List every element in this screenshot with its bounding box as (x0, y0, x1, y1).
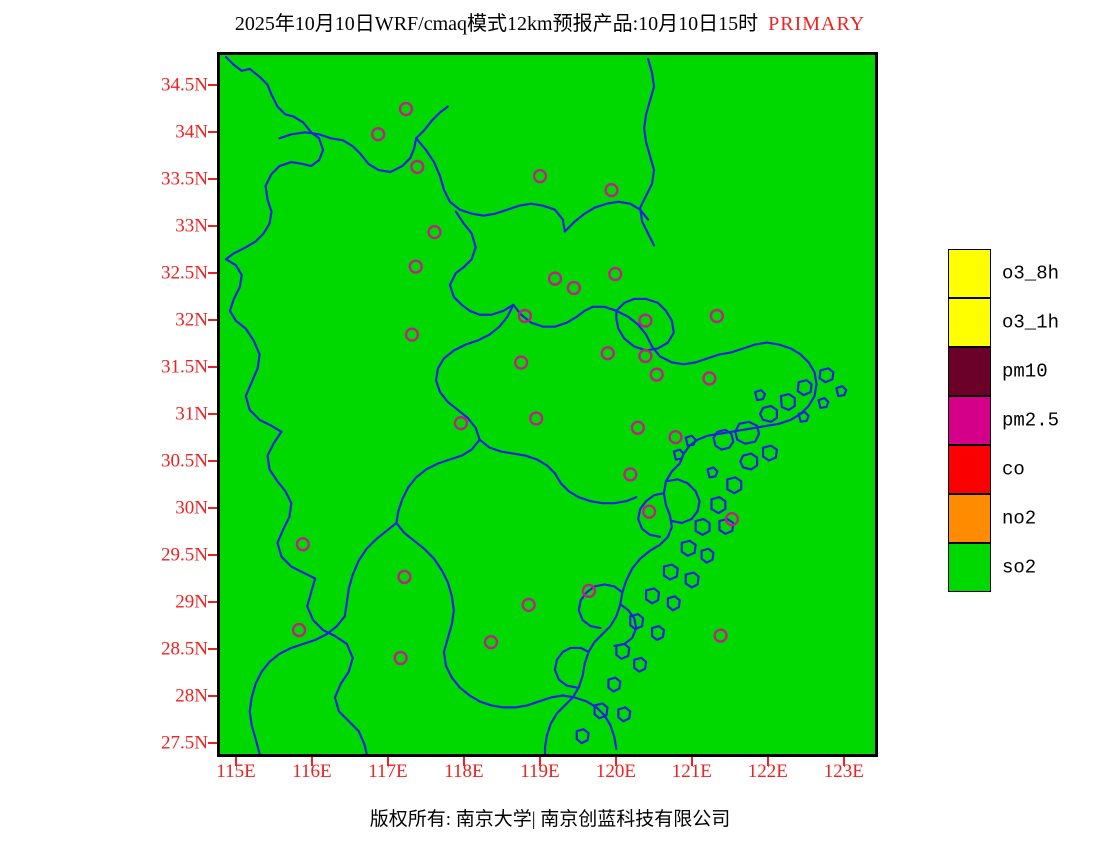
x-axis-tick-mark (463, 757, 465, 766)
station-marker (651, 369, 663, 381)
station-marker (549, 273, 561, 285)
x-axis-tick-mark (311, 757, 313, 766)
y-axis-tick-mark (208, 84, 217, 86)
y-axis-tick-label: 34N (175, 122, 208, 141)
y-axis-tick-label: 31.5N (161, 357, 208, 376)
map-vector-layer (220, 55, 875, 754)
station-marker (406, 329, 418, 341)
legend-item-label: o3_8h (1002, 264, 1059, 283)
station-marker (429, 226, 441, 238)
y-axis-tick-mark (208, 131, 217, 133)
x-axis-tick-mark (767, 757, 769, 766)
y-axis-tick-mark (208, 272, 217, 274)
station-marker (711, 310, 723, 322)
station-marker (568, 282, 580, 294)
station-marker (703, 372, 715, 384)
legend-item-pm2-5[interactable]: pm2.5 (948, 396, 1096, 445)
station-marker (624, 468, 636, 480)
y-axis-tick-label: 33.5N (161, 169, 208, 188)
legend-color-swatch (948, 494, 991, 543)
copyright-footer: 版权所有: 南京大学| 南京创蓝科技有限公司 (0, 808, 1100, 832)
y-axis-tick-mark (208, 554, 217, 556)
station-marker (485, 636, 497, 648)
station-marker (632, 422, 644, 434)
station-marker (400, 103, 412, 115)
y-axis-tick-mark (208, 601, 217, 603)
legend-item-pm10[interactable]: pm10 (948, 347, 1096, 396)
station-marker (297, 538, 309, 550)
legend-item-so2[interactable]: so2 (948, 543, 1096, 592)
y-axis-tick-mark (208, 742, 217, 744)
legend-item-co[interactable]: co (948, 445, 1096, 494)
legend-color-swatch (948, 396, 991, 445)
legend-color-swatch (948, 347, 991, 396)
x-axis-tick-mark (387, 757, 389, 766)
y-axis-tick-label: 34.5N (161, 75, 208, 94)
y-axis-tick-mark (208, 460, 217, 462)
legend-item-label: co (1002, 460, 1025, 479)
y-axis-tick-label: 27.5N (161, 733, 208, 752)
legend-color-swatch (948, 298, 991, 347)
station-marker (602, 347, 614, 359)
station-marker (715, 630, 727, 642)
map-plot-area[interactable] (217, 52, 878, 757)
station-marker (395, 652, 407, 664)
title-main-text: 2025年10月10日WRF/cmaq模式12km预报产品:10月10日15时 (235, 13, 758, 35)
station-marker (639, 350, 651, 362)
y-axis-tick-label: 29N (175, 592, 208, 611)
legend-color-swatch (948, 445, 991, 494)
y-axis-tick-label: 32.5N (161, 263, 208, 282)
station-marker (372, 128, 384, 140)
y-axis-tick-mark (208, 319, 217, 321)
x-axis-tick-mark (615, 757, 617, 766)
station-marker (606, 184, 618, 196)
y-axis-labels: 27.5N28N28.5N29N29.5N30N30.5N31N31.5N32N… (140, 52, 208, 757)
legend-item-label: pm2.5 (1002, 411, 1059, 430)
legend-color-swatch (948, 249, 991, 298)
y-axis-tick-label: 30.5N (161, 451, 208, 470)
x-axis-tick-mark (691, 757, 693, 766)
page-title: 2025年10月10日WRF/cmaq模式12km预报产品:10月10日15时P… (0, 12, 1100, 36)
y-axis-tick-mark (208, 178, 217, 180)
station-marker (639, 315, 651, 327)
station-marker (670, 431, 682, 443)
x-axis-tick-mark (843, 757, 845, 766)
air-quality-forecast-map-page: 2025年10月10日WRF/cmaq模式12km预报产品:10月10日15时P… (0, 0, 1100, 850)
station-marker (398, 571, 410, 583)
legend-item-no2[interactable]: no2 (948, 494, 1096, 543)
y-axis-tick-label: 31N (175, 404, 208, 423)
legend-item-label: pm10 (1002, 362, 1048, 381)
legend-color-swatch (948, 543, 991, 592)
station-marker (515, 357, 527, 369)
y-axis-tick-label: 30N (175, 498, 208, 517)
y-axis-tick-label: 28N (175, 686, 208, 705)
x-axis-tick-mark (539, 757, 541, 766)
legend-item-label: no2 (1002, 509, 1036, 528)
station-marker (455, 417, 467, 429)
y-axis-tick-mark (208, 225, 217, 227)
station-marker (534, 170, 546, 182)
y-axis-tick-mark (208, 413, 217, 415)
legend-item-label: o3_1h (1002, 313, 1059, 332)
pollutant-legend: o3_8ho3_1hpm10pm2.5cono2so2 (948, 249, 1096, 592)
y-axis-tick-label: 32N (175, 310, 208, 329)
y-axis-tick-label: 29.5N (161, 545, 208, 564)
station-marker (530, 413, 542, 425)
legend-item-o3-8h[interactable]: o3_8h (948, 249, 1096, 298)
y-axis-tick-label: 28.5N (161, 639, 208, 658)
legend-item-o3-1h[interactable]: o3_1h (948, 298, 1096, 347)
y-axis-tick-mark (208, 695, 217, 697)
province-border-lines (226, 57, 846, 754)
station-marker (519, 310, 531, 322)
y-axis-tick-mark (208, 648, 217, 650)
station-marker (411, 161, 423, 173)
x-axis-labels: 115E116E117E118E119E120E121E122E123E (217, 762, 878, 792)
station-marker (643, 506, 655, 518)
y-axis-tick-mark (208, 366, 217, 368)
station-marker (410, 261, 422, 273)
x-axis-tick-mark (235, 757, 237, 766)
y-axis-tick-mark (208, 507, 217, 509)
title-primary-text: PRIMARY (758, 13, 865, 35)
station-marker (523, 599, 535, 611)
station-marker (609, 268, 621, 280)
legend-item-label: so2 (1002, 558, 1036, 577)
y-axis-tick-label: 33N (175, 216, 208, 235)
station-marker (293, 624, 305, 636)
